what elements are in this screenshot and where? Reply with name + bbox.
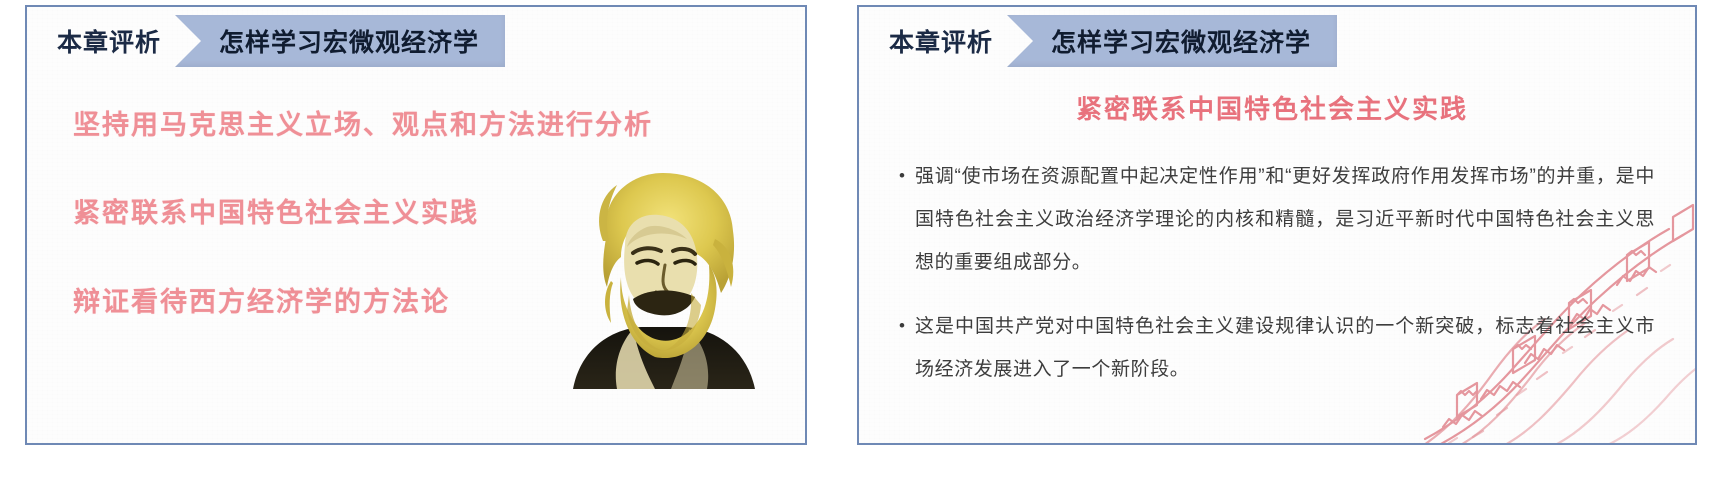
header-section-label: 本章评析 <box>27 15 183 67</box>
bullet-marker-icon: • <box>889 306 915 334</box>
slide-right-body: 紧密联系中国特色社会主义实践 • 强调“使市场在资源配置中起决定性作用”和“更好… <box>859 67 1695 392</box>
header-chevron-label: 怎样学习宏微观经济学 <box>219 23 479 59</box>
bullet-marker-icon: • <box>889 156 915 184</box>
header-chevron-banner: 怎样学习宏微观经济学 <box>1007 15 1337 67</box>
slide-left-header: 本章评析 怎样学习宏微观经济学 <box>27 15 805 67</box>
slide-left: 本章评析 怎样学习宏微观经济学 坚持用马克思主义立场、观点和方法进行分析 紧密联… <box>25 5 807 445</box>
slide-right-header: 本章评析 怎样学习宏微观经济学 <box>859 15 1695 67</box>
bullet-item-2: • 这是中国共产党对中国特色社会主义建设规律认识的一个新突破，标志着社会主义市场… <box>889 306 1655 392</box>
header-chevron-banner: 怎样学习宏微观经济学 <box>175 15 505 67</box>
left-point-1: 坚持用马克思主义立场、观点和方法进行分析 <box>73 109 805 141</box>
bullet-text-2: 这是中国共产党对中国特色社会主义建设规律认识的一个新突破，标志着社会主义市场经济… <box>915 306 1655 392</box>
bullet-text-1: 强调“使市场在资源配置中起决定性作用”和“更好发挥政府作用发挥市场”的并重，是中… <box>915 156 1655 284</box>
slide-right: 本章评析 怎样学习宏微观经济学 紧密联系中国特色社会主义实践 • 强调“使市场在… <box>857 5 1697 445</box>
bullet-item-1: • 强调“使市场在资源配置中起决定性作用”和“更好发挥政府作用发挥市场”的并重，… <box>889 156 1655 284</box>
slide-right-title: 紧密联系中国特色社会主义实践 <box>889 89 1655 126</box>
slide-deck: 本章评析 怎样学习宏微观经济学 坚持用马克思主义立场、观点和方法进行分析 紧密联… <box>0 0 1723 491</box>
header-chevron-label: 怎样学习宏微观经济学 <box>1051 23 1311 59</box>
karl-marx-portrait <box>555 161 765 391</box>
header-section-label: 本章评析 <box>859 15 1015 67</box>
